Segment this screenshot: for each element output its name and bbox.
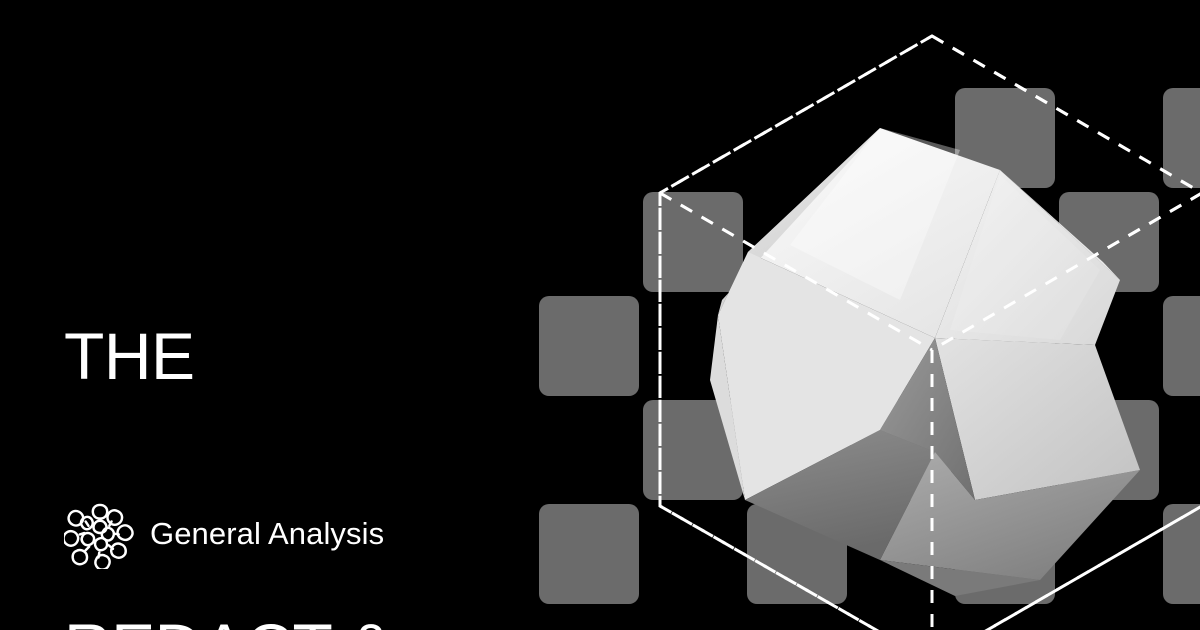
rounded-square-tile [643, 192, 743, 292]
brand-name: General Analysis [150, 518, 384, 549]
text-column: THE REDACT & RECOVER JAILBREAK [0, 0, 520, 630]
rounded-square-tile [539, 504, 639, 604]
logo-outer-ring [64, 505, 133, 569]
headline-line-2: REDACT & [64, 599, 534, 630]
general-analysis-neural-knot-logo-icon [64, 497, 136, 569]
rounded-square-tile [539, 296, 639, 396]
brand-lockup: General Analysis [64, 497, 384, 569]
og-card: THE REDACT & RECOVER JAILBREAK [0, 0, 1200, 630]
headline-line-1: THE [64, 308, 534, 405]
rounded-square-tile [1163, 296, 1200, 396]
